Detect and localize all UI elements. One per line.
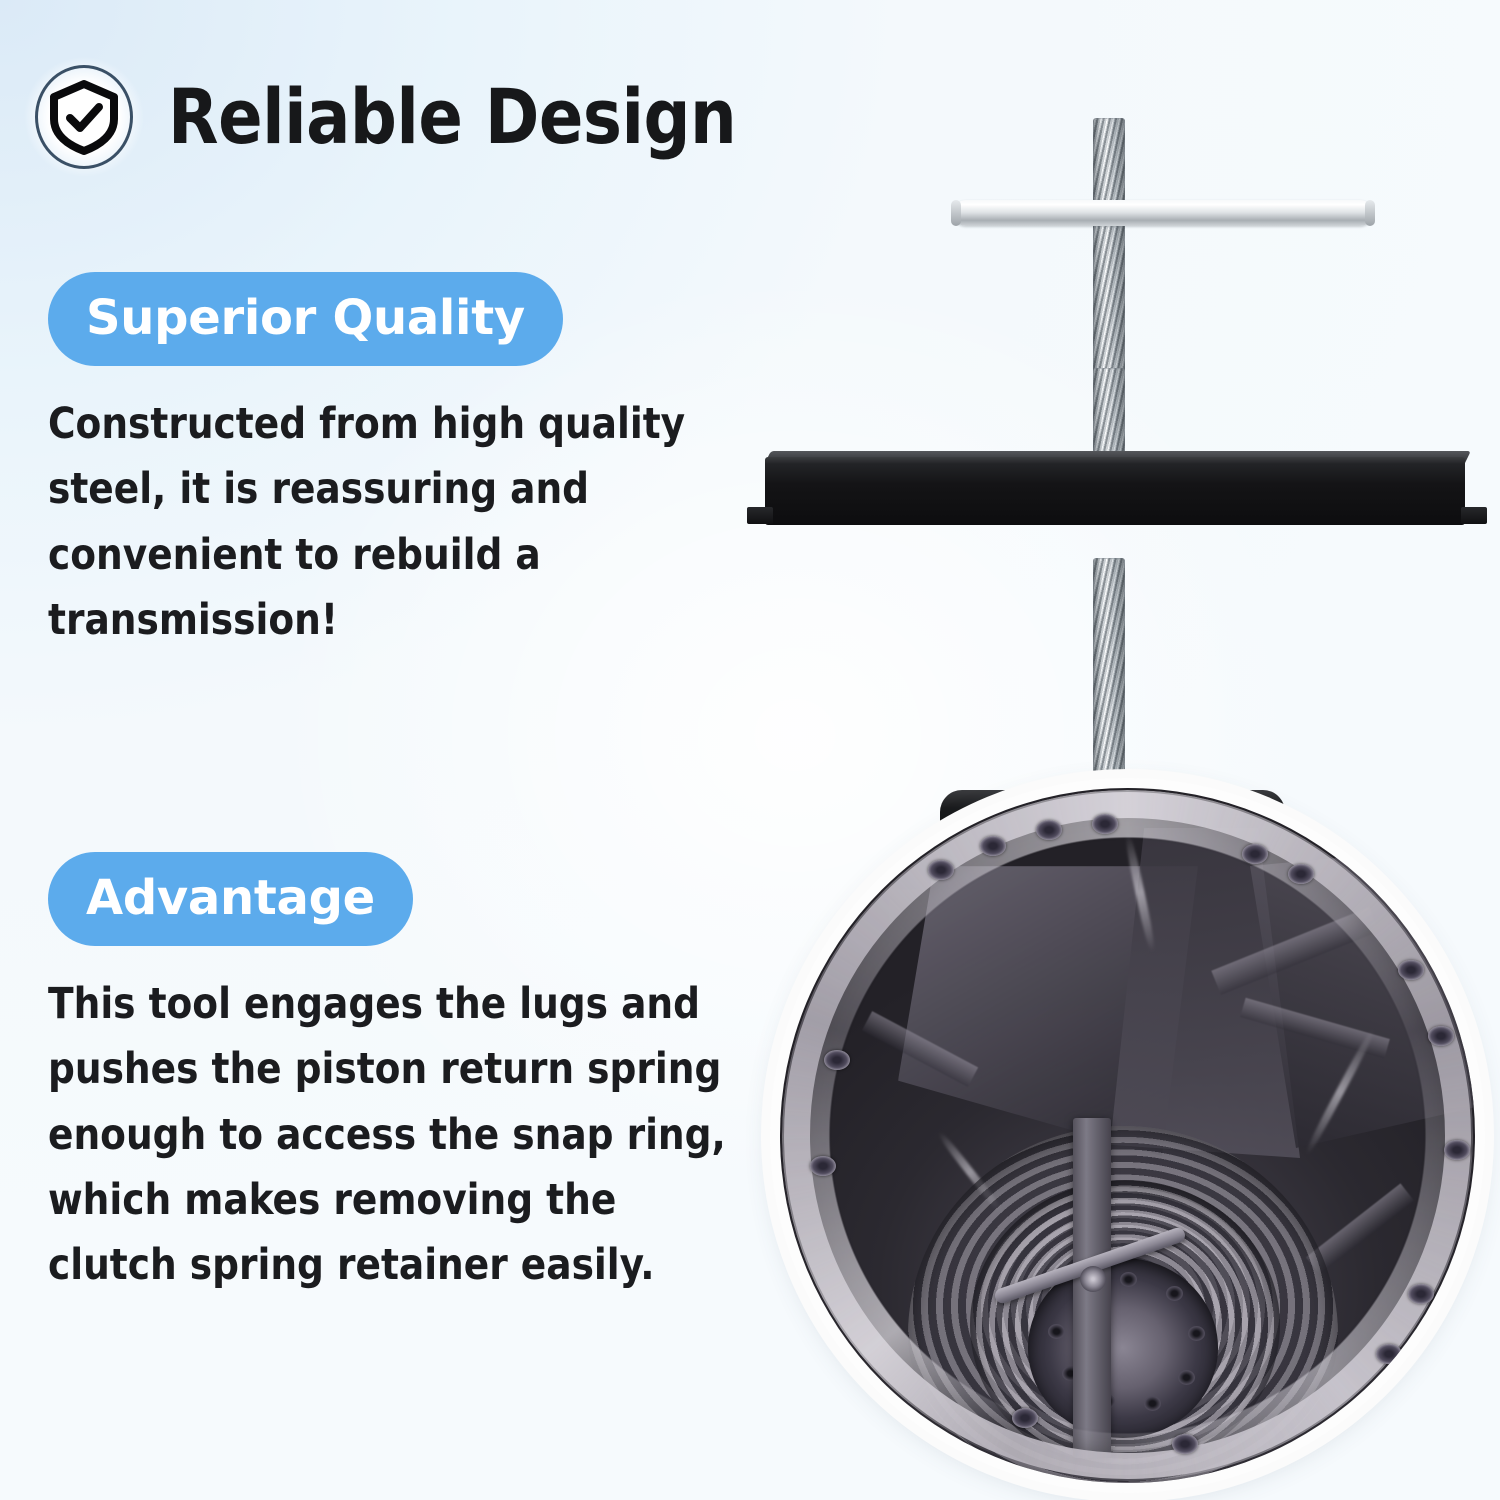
rim-bolt-hole — [1398, 960, 1424, 980]
tool-pivot-knob — [1080, 1266, 1106, 1292]
rim-bolt-hole — [1012, 1408, 1038, 1428]
t-handle-cap-right — [1365, 200, 1375, 226]
transmission-bell-housing-photo — [770, 778, 1485, 1493]
clutch-spring-compressor-tool-photo — [735, 100, 1500, 725]
hub-hole — [1120, 1272, 1137, 1287]
rim-bolt-hole — [980, 836, 1006, 856]
bell-housing-interior — [780, 788, 1475, 1483]
t-handle-bar — [953, 200, 1373, 226]
rim-bolt-hole — [928, 860, 954, 880]
rim-bolt-hole — [810, 1156, 836, 1176]
feature-block-superior-quality: Superior Quality Constructed from high q… — [48, 272, 748, 696]
rim-bolt-hole — [1288, 864, 1314, 884]
cross-bar-tab-left — [747, 507, 773, 524]
hub-hole — [1178, 1370, 1195, 1385]
threaded-rod-lower — [1093, 558, 1125, 793]
tool-cross-bar — [743, 447, 1485, 525]
feature-text-superior-quality: Constructed from high quality steel, it … — [48, 392, 708, 653]
rim-bolt-hole — [824, 1050, 850, 1070]
cross-bar-face — [765, 457, 1465, 525]
feature-block-advantage: Advantage This tool engages the lugs and… — [48, 852, 768, 1342]
feature-text-advantage: This tool engages the lugs and pushes th… — [48, 972, 727, 1299]
hub-hole — [1188, 1326, 1205, 1341]
hub-hole — [1048, 1324, 1065, 1339]
rim-bolt-hole — [1092, 814, 1118, 834]
badge-superior-quality: Superior Quality — [48, 272, 563, 366]
rim-bolt-hole — [1172, 1434, 1198, 1454]
badge-advantage: Advantage — [48, 852, 413, 946]
rim-bolt-hole — [1242, 844, 1268, 864]
page-title: Reliable Design — [168, 79, 736, 155]
header: Reliable Design — [24, 28, 760, 206]
infographic-page: Reliable Design Superior Quality Constru… — [0, 0, 1500, 1500]
hub-hole — [1166, 1286, 1183, 1301]
rim-bolt-hole — [1036, 820, 1062, 840]
shield-check-badge — [24, 57, 144, 177]
rim-bolt-hole — [1408, 1284, 1434, 1304]
t-handle-cap-left — [951, 200, 961, 226]
badge-ring — [35, 65, 133, 169]
rim-bolt-hole — [1444, 1140, 1470, 1160]
cross-bar-tab-right — [1461, 507, 1487, 524]
rim-bolt-hole — [1428, 1026, 1454, 1046]
rim-bolt-hole — [1376, 1344, 1402, 1364]
piston-return-spring-hub — [1028, 1258, 1218, 1438]
hub-hole — [1144, 1396, 1161, 1411]
